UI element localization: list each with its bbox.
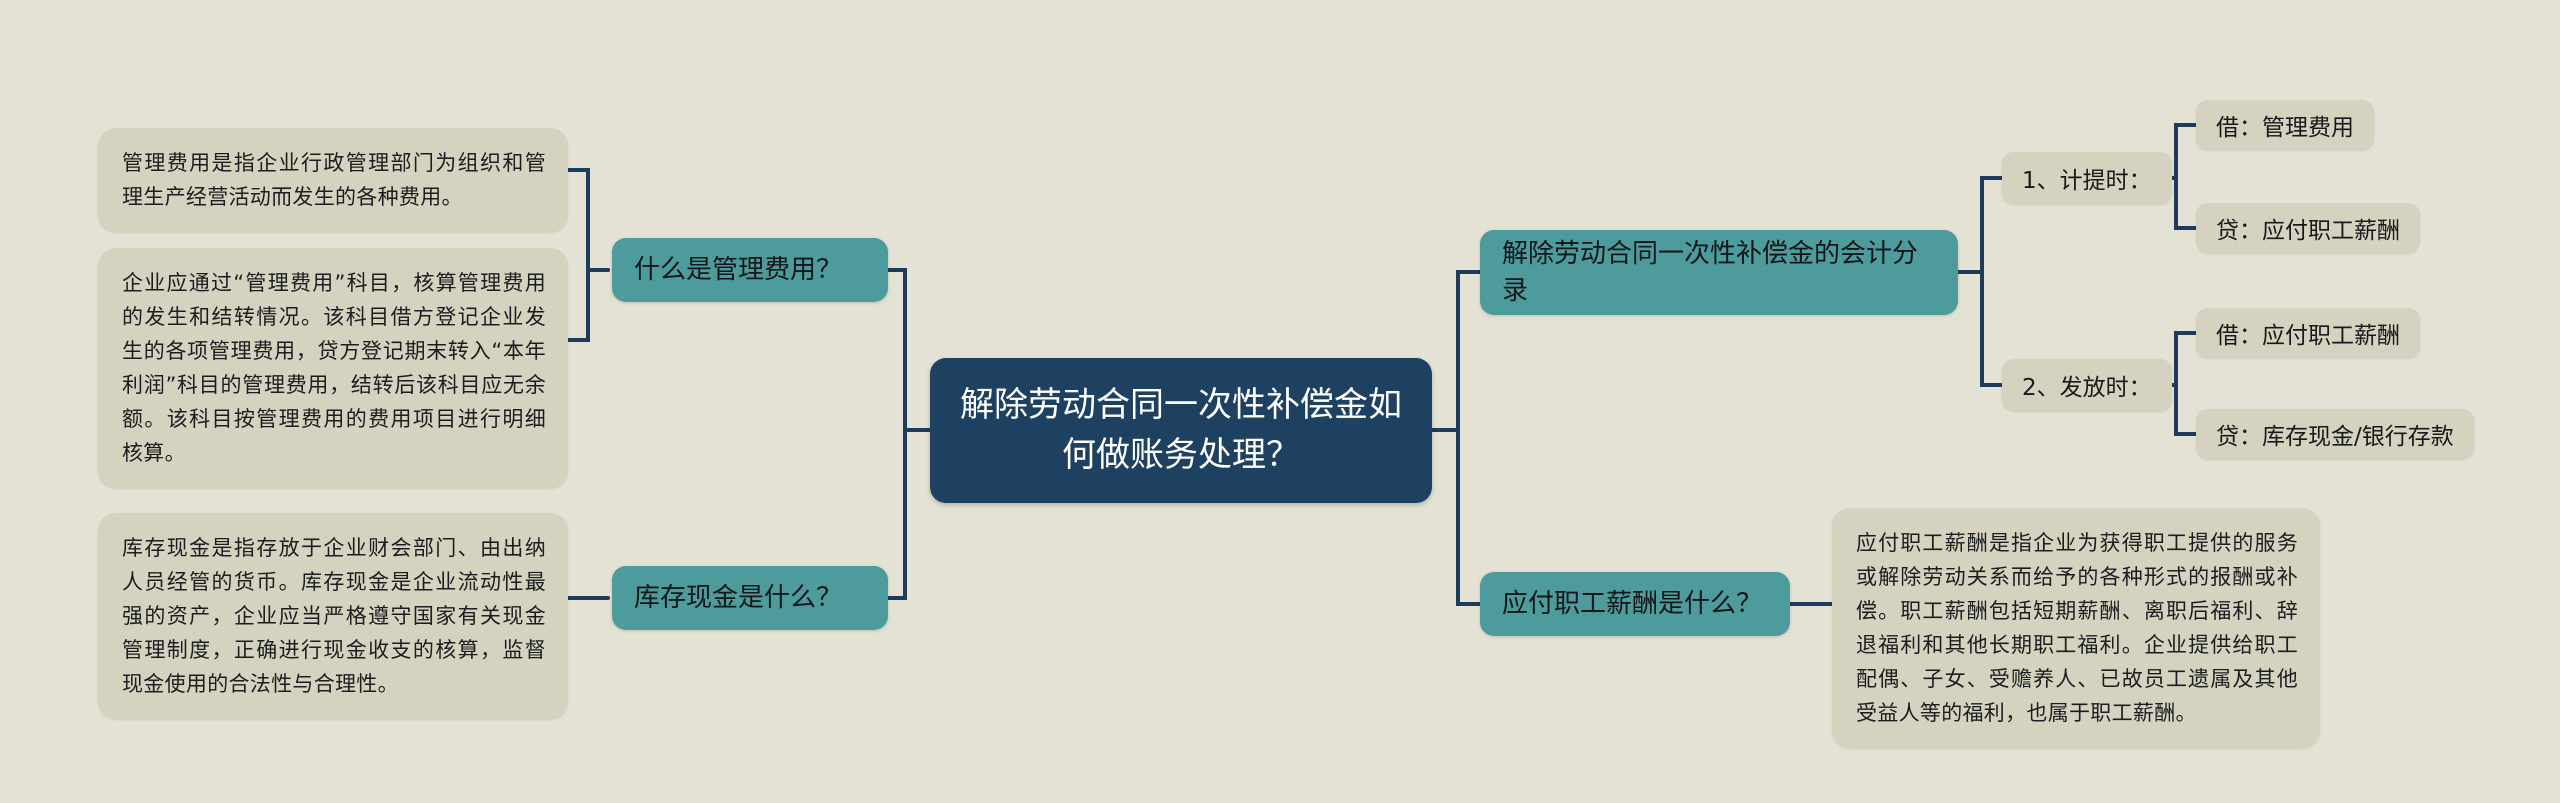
wire-root-to-left-1 bbox=[888, 270, 930, 430]
entry-accrual-credit[interactable]: 贷：应付职工薪酬 bbox=[2196, 203, 2420, 253]
branch-node-what-is-employee-compensation-payable[interactable]: 应付职工薪酬是什么？ bbox=[1480, 572, 1790, 636]
detail-box-admin-expense-definition: 管理费用是指企业行政管理部门为组织和管理生产经营活动而发生的各种费用。 bbox=[98, 128, 568, 232]
entry-text: 贷：库存现金/银行存款 bbox=[2216, 417, 2454, 451]
detail-text: 应付职工薪酬是指企业为获得职工提供的服务或解除劳动关系而给予的各种形式的报酬或补… bbox=[1856, 526, 2298, 730]
detail-text: 企业应通过“管理费用”科目，核算管理费用的发生和结转情况。该科目借方登记企业发生… bbox=[122, 266, 546, 470]
wire-right1-group1 bbox=[1958, 178, 2002, 272]
branch-node-what-is-cash-on-hand[interactable]: 库存现金是什么？ bbox=[612, 566, 888, 630]
group-tag-payout[interactable]: 2、发放时： bbox=[2002, 359, 2172, 411]
branch-node-severance-journal-entry[interactable]: 解除劳动合同一次性补偿金的会计分录 bbox=[1480, 230, 1958, 315]
group-tag-accrual[interactable]: 1、计提时： bbox=[2002, 152, 2172, 204]
entry-accrual-debit[interactable]: 借：管理费用 bbox=[2196, 100, 2374, 150]
detail-box-cash-on-hand-definition: 库存现金是指存放于企业财会部门、由出纳人员经管的货币。库存现金是企业流动性最强的… bbox=[98, 513, 568, 719]
detail-text: 管理费用是指企业行政管理部门为组织和管理生产经营活动而发生的各种费用。 bbox=[122, 146, 546, 214]
detail-box-employee-compensation-payable: 应付职工薪酬是指企业为获得职工提供的服务或解除劳动关系而给予的各种形式的报酬或补… bbox=[1832, 508, 2320, 748]
wire-root-to-right-1 bbox=[1432, 272, 1480, 430]
wire-left1-detail1 bbox=[568, 170, 608, 270]
root-label: 解除劳动合同一次性补偿金如何做账务处理？ bbox=[956, 381, 1406, 480]
entry-text: 借：管理费用 bbox=[2216, 108, 2354, 142]
wire-left1-detail2 bbox=[568, 270, 608, 340]
root-node[interactable]: 解除劳动合同一次性补偿金如何做账务处理？ bbox=[930, 358, 1432, 503]
branch-label: 应付职工薪酬是什么？ bbox=[1502, 586, 1768, 623]
group-tag-label: 1、计提时： bbox=[2022, 161, 2152, 195]
branch-label: 解除劳动合同一次性补偿金的会计分录 bbox=[1502, 236, 1936, 310]
entry-payout-debit[interactable]: 借：应付职工薪酬 bbox=[2196, 308, 2420, 358]
entry-text: 借：应付职工薪酬 bbox=[2216, 316, 2400, 350]
detail-box-admin-expense-accounting: 企业应通过“管理费用”科目，核算管理费用的发生和结转情况。该科目借方登记企业发生… bbox=[98, 248, 568, 488]
detail-text: 库存现金是指存放于企业财会部门、由出纳人员经管的货币。库存现金是企业流动性最强的… bbox=[122, 531, 546, 701]
wire-root-to-right-2 bbox=[1432, 430, 1480, 604]
wire-right1-group2 bbox=[1958, 272, 2002, 385]
entry-text: 贷：应付职工薪酬 bbox=[2216, 211, 2400, 245]
branch-label: 什么是管理费用？ bbox=[634, 252, 866, 289]
branch-node-what-is-admin-expense[interactable]: 什么是管理费用？ bbox=[612, 238, 888, 302]
mindmap-canvas: 管理费用是指企业行政管理部门为组织和管理生产经营活动而发生的各种费用。 企业应通… bbox=[0, 0, 2560, 803]
group-tag-label: 2、发放时： bbox=[2022, 368, 2152, 402]
wire-root-to-left-2 bbox=[888, 430, 930, 598]
branch-label: 库存现金是什么？ bbox=[634, 580, 866, 617]
entry-payout-credit[interactable]: 贷：库存现金/银行存款 bbox=[2196, 409, 2474, 459]
